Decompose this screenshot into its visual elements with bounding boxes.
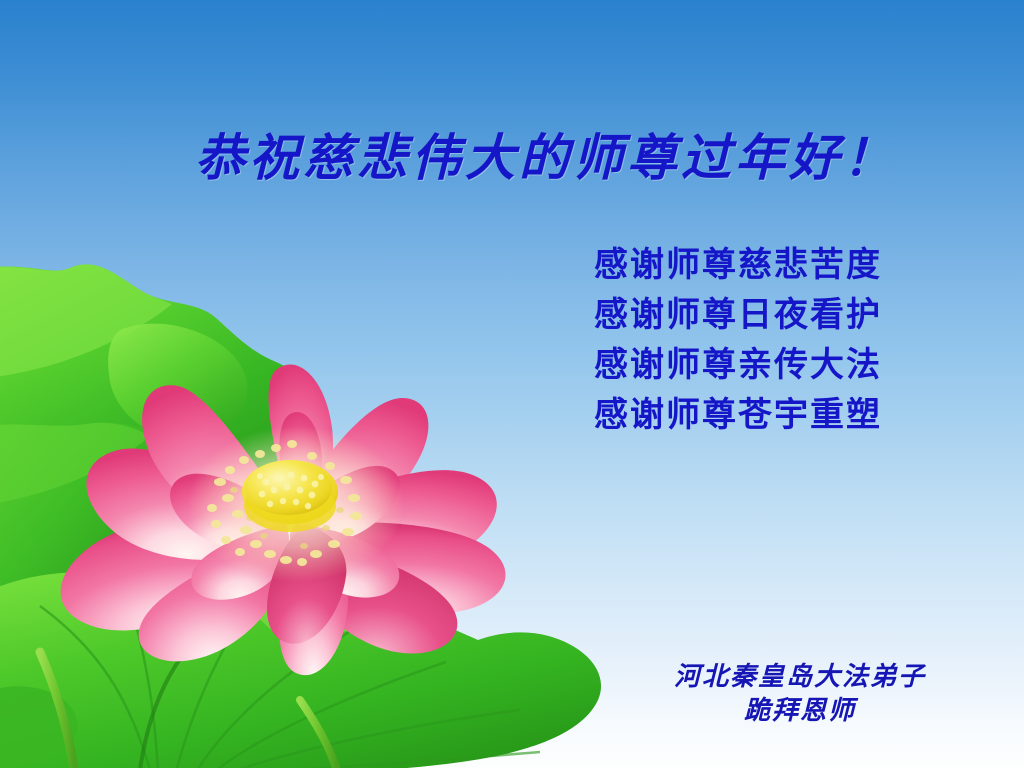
signature-line: 河北秦皇岛大法弟子 [620, 660, 980, 694]
page-title: 恭祝慈悲伟大的师尊过年好！ [195, 118, 897, 190]
flower-seed-pod [242, 460, 338, 532]
greeting-card: 恭祝慈悲伟大的师尊过年好！ 感谢师尊慈悲苦度 感谢师尊日夜看护 感谢师尊亲传大法… [0, 0, 1024, 768]
verse-line: 感谢师尊日夜看护 [548, 290, 928, 340]
verse-line: 感谢师尊亲传大法 [548, 340, 928, 390]
signature-block: 河北秦皇岛大法弟子 跪拜恩师 [620, 660, 980, 728]
verse-line: 感谢师尊慈悲苦度 [548, 240, 928, 290]
verse-block: 感谢师尊慈悲苦度 感谢师尊日夜看护 感谢师尊亲传大法 感谢师尊苍宇重塑 [548, 240, 928, 440]
verse-line: 感谢师尊苍宇重塑 [548, 390, 928, 440]
signature-line: 跪拜恩师 [620, 694, 980, 728]
